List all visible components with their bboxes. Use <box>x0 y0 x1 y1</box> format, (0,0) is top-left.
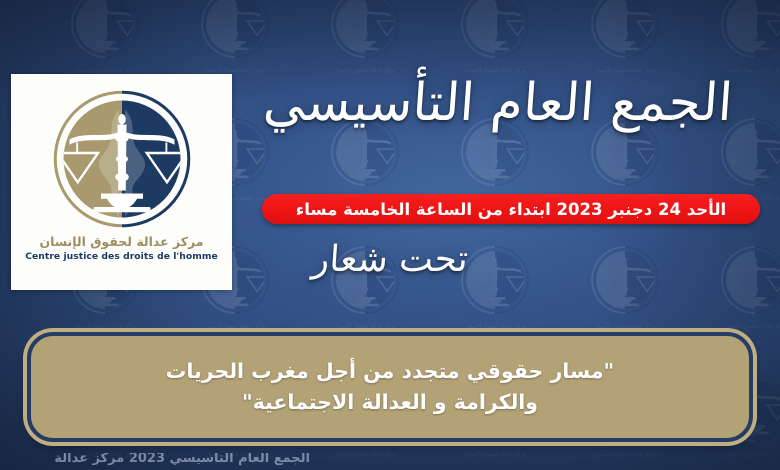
scales-of-justice-icon <box>47 84 197 234</box>
subtitle-under-slogan: تحت شعار <box>0 238 780 281</box>
footer-cutoff-area: الجمع العام التأسيسي 2023 مركز عدالة <box>0 453 780 470</box>
slogan-line-2: والكرامة و العدالة الاجتماعية" <box>166 387 614 418</box>
slogan-line-1: "مسار حقوقي متجدد من أجل مغرب الحريات <box>166 356 614 387</box>
footer-partial-text: الجمع العام التأسيسي 2023 مركز عدالة <box>54 453 310 466</box>
event-date-text: الأحد 24 دجنبر 2023 ابتداء من الساعة الخ… <box>296 200 726 219</box>
event-date-banner: الأحد 24 دجنبر 2023 ابتداء من الساعة الخ… <box>262 194 760 224</box>
page-title: الجمع العام التأسيسي <box>236 72 760 135</box>
slogan-plaque: "مسار حقوقي متجدد من أجل مغرب الحريات وا… <box>27 332 753 442</box>
slogan-text: "مسار حقوقي متجدد من أجل مغرب الحريات وا… <box>166 356 614 418</box>
poster-canvas: مركز عدالة لحقوق الإنسانمركز عدالة لحقوق… <box>0 0 780 470</box>
